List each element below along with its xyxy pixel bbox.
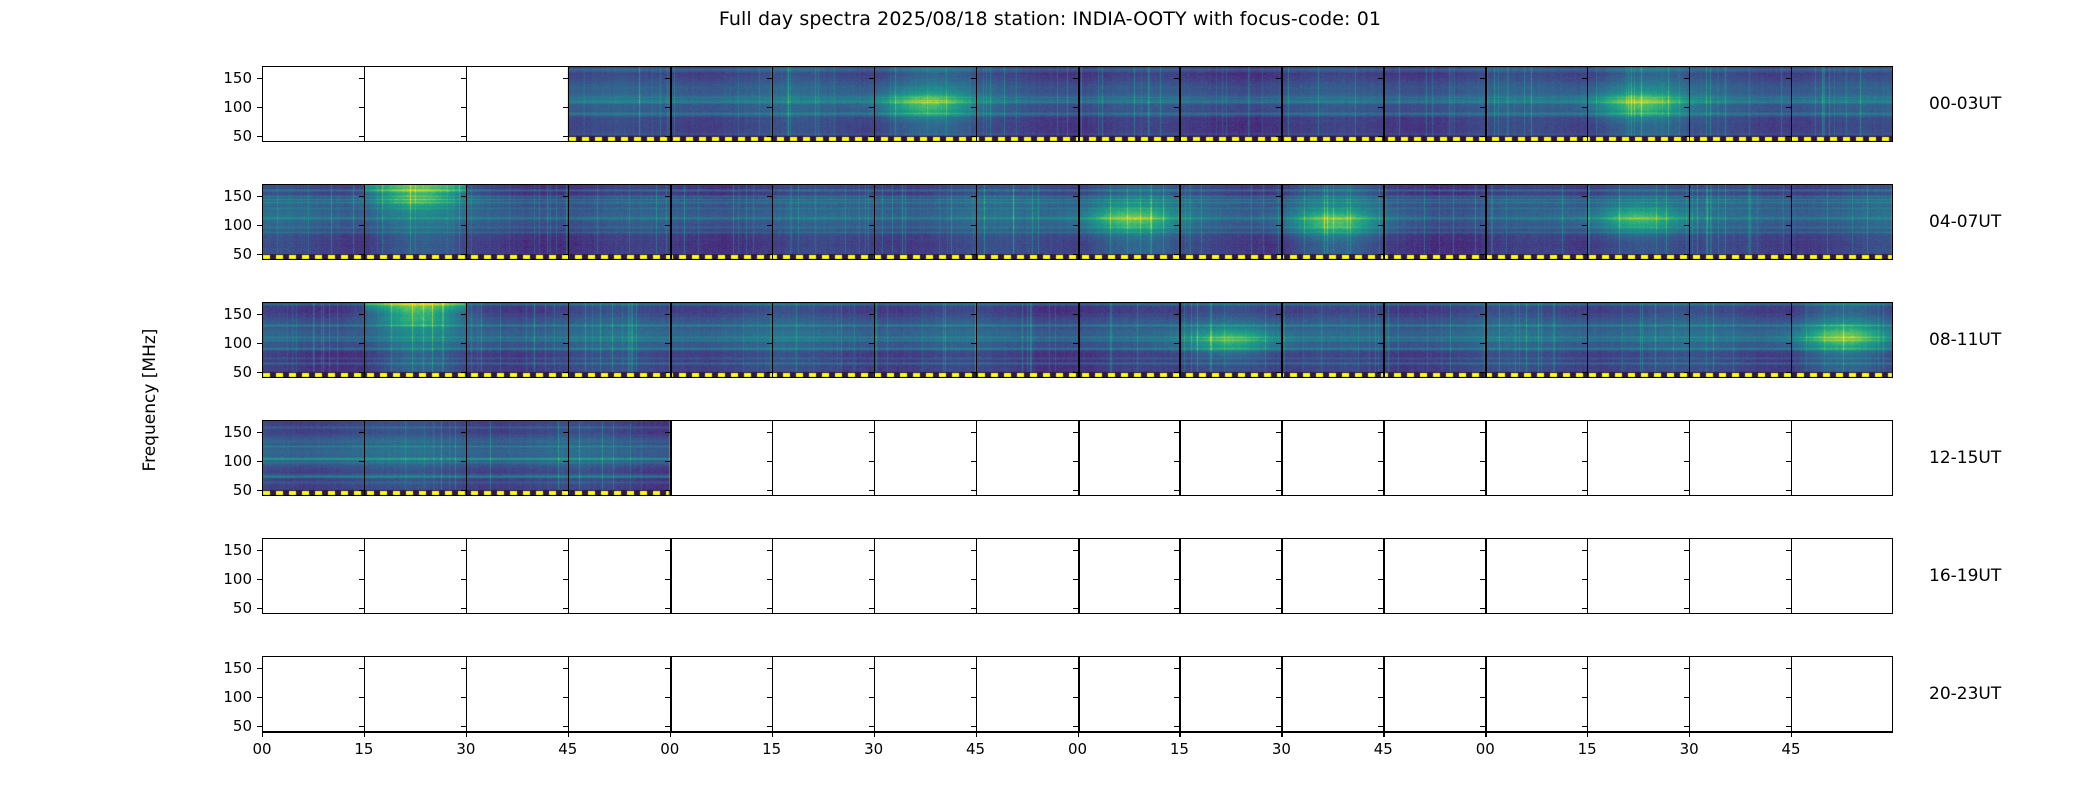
y-tick-mark-inner xyxy=(1786,461,1791,462)
y-tick-label: 50 xyxy=(233,481,252,499)
y-tick-mark-inner xyxy=(767,254,772,255)
x-tick-label: 15 xyxy=(354,740,373,758)
panel-divider xyxy=(364,538,365,614)
panel-divider xyxy=(1485,538,1487,614)
y-tick-mark-inner xyxy=(563,726,568,727)
y-tick-mark-inner xyxy=(1480,608,1485,609)
y-tick-mark xyxy=(257,697,262,698)
y-tick-mark-inner xyxy=(1480,196,1485,197)
y-tick-mark-inner xyxy=(869,196,874,197)
panel-divider xyxy=(568,538,569,614)
y-tick-mark-inner xyxy=(1480,136,1485,137)
x-tick-mark xyxy=(364,732,365,737)
y-tick-mark-inner xyxy=(1174,608,1179,609)
y-tick-mark-inner xyxy=(971,490,976,491)
y-tick-mark-inner xyxy=(1073,254,1078,255)
y-tick-mark xyxy=(257,107,262,108)
y-tick-label: 100 xyxy=(223,216,252,234)
y-tick-mark xyxy=(257,461,262,462)
y-tick-mark-inner xyxy=(767,136,772,137)
y-tick-mark-inner xyxy=(971,579,976,580)
y-tick-mark-inner xyxy=(1480,726,1485,727)
y-tick-mark-inner xyxy=(1073,697,1078,698)
y-tick-mark-inner xyxy=(359,432,364,433)
panel-divider xyxy=(568,656,569,732)
row-label-04-07ut: 04-07UT xyxy=(1929,212,2001,232)
y-tick-mark-inner xyxy=(563,461,568,462)
y-tick-mark-inner xyxy=(1684,668,1689,669)
panel-divider xyxy=(1791,66,1792,142)
panel-divider xyxy=(1179,302,1180,378)
y-tick-mark-inner xyxy=(1582,107,1587,108)
y-tick-mark-inner xyxy=(971,225,976,226)
y-tick-mark-inner xyxy=(1684,107,1689,108)
y-tick-mark-inner xyxy=(359,107,364,108)
y-tick-mark-inner xyxy=(1276,579,1281,580)
y-tick-mark-inner xyxy=(1480,461,1485,462)
y-tick-mark-inner xyxy=(461,254,466,255)
y-tick-mark-inner xyxy=(461,107,466,108)
x-tick-label: 00 xyxy=(1068,740,1087,758)
y-tick-mark-inner xyxy=(1684,314,1689,315)
y-tick-mark-inner xyxy=(1174,78,1179,79)
x-tick-mark xyxy=(1485,732,1486,737)
x-tick-mark xyxy=(466,732,467,737)
panel-divider xyxy=(976,66,977,142)
panel-divider xyxy=(364,656,365,732)
y-tick-mark-inner xyxy=(767,78,772,79)
y-tick-label: 100 xyxy=(223,452,252,470)
y-tick-mark-inner xyxy=(1786,668,1791,669)
y-tick-mark-inner xyxy=(1480,225,1485,226)
y-tick-mark-inner xyxy=(869,225,874,226)
y-tick-mark-inner xyxy=(1073,668,1078,669)
y-tick-mark-inner xyxy=(1786,608,1791,609)
y-tick-mark-inner xyxy=(971,107,976,108)
panel-divider xyxy=(1383,302,1384,378)
x-tick-mark xyxy=(1791,732,1792,737)
y-tick-mark-inner xyxy=(461,372,466,373)
y-tick-label: 100 xyxy=(223,334,252,352)
y-tick-mark-inner xyxy=(665,608,670,609)
y-tick-mark-inner xyxy=(1174,432,1179,433)
plot-area: 5010015000-03UT5010015004-07UT5010015008… xyxy=(262,66,1893,732)
panel-divider xyxy=(1791,302,1792,378)
y-tick-mark-inner xyxy=(1480,490,1485,491)
panel-divider xyxy=(670,420,672,496)
y-tick-mark-inner xyxy=(767,314,772,315)
y-tick-label: 50 xyxy=(233,245,252,263)
panel-divider xyxy=(1179,420,1180,496)
y-tick-mark-inner xyxy=(1276,343,1281,344)
y-tick-mark-inner xyxy=(1378,461,1383,462)
y-tick-mark-inner xyxy=(665,579,670,580)
y-tick-mark-inner xyxy=(1174,668,1179,669)
y-tick-mark-inner xyxy=(461,343,466,344)
y-tick-mark-inner xyxy=(1684,490,1689,491)
panel-divider xyxy=(874,66,875,142)
y-tick-mark-inner xyxy=(1684,136,1689,137)
y-tick-mark-inner xyxy=(1582,579,1587,580)
y-tick-mark-inner xyxy=(1480,343,1485,344)
x-tick-label: 45 xyxy=(1374,740,1393,758)
y-tick-mark-inner xyxy=(1582,461,1587,462)
y-tick-mark-inner xyxy=(563,343,568,344)
y-tick-mark-inner xyxy=(359,196,364,197)
y-tick-mark-inner xyxy=(1276,490,1281,491)
y-tick-mark-inner xyxy=(1786,196,1791,197)
x-tick-mark xyxy=(568,732,569,737)
y-tick-label: 100 xyxy=(223,570,252,588)
y-tick-mark-inner xyxy=(359,490,364,491)
y-tick-mark-inner xyxy=(461,196,466,197)
panel-divider xyxy=(1587,184,1588,260)
y-tick-mark-inner xyxy=(1174,372,1179,373)
y-tick-mark-inner xyxy=(1073,461,1078,462)
y-tick-mark-inner xyxy=(563,314,568,315)
y-tick-mark-inner xyxy=(869,579,874,580)
panel-divider xyxy=(1485,66,1487,142)
y-tick-mark-inner xyxy=(1786,343,1791,344)
y-tick-mark-inner xyxy=(359,136,364,137)
y-tick-mark-inner xyxy=(1073,196,1078,197)
y-tick-mark xyxy=(257,343,262,344)
panel-divider xyxy=(1689,538,1690,614)
y-tick-mark-inner xyxy=(971,697,976,698)
panel-divider xyxy=(466,302,467,378)
y-tick-mark-inner xyxy=(869,726,874,727)
y-tick-mark-inner xyxy=(1174,550,1179,551)
y-tick-mark-inner xyxy=(1174,254,1179,255)
panel-divider xyxy=(874,302,875,378)
panel-divider xyxy=(1179,538,1180,614)
y-tick-mark-inner xyxy=(1073,579,1078,580)
x-tick-mark xyxy=(772,732,773,737)
y-tick-label: 150 xyxy=(223,69,252,87)
panel-divider xyxy=(1281,538,1282,614)
panel-divider xyxy=(1791,184,1792,260)
y-tick-mark-inner xyxy=(1378,697,1383,698)
x-tick-label: 15 xyxy=(1170,740,1189,758)
y-tick-mark-inner xyxy=(767,372,772,373)
y-tick-label: 50 xyxy=(233,717,252,735)
y-tick-mark-inner xyxy=(1582,314,1587,315)
y-tick-mark-inner xyxy=(869,343,874,344)
y-tick-mark-inner xyxy=(971,608,976,609)
panel-divider xyxy=(976,184,977,260)
y-tick-mark-inner xyxy=(563,432,568,433)
y-tick-mark-inner xyxy=(665,107,670,108)
y-tick-mark-inner xyxy=(1582,668,1587,669)
y-tick-mark-inner xyxy=(1582,490,1587,491)
y-tick-mark xyxy=(257,372,262,373)
y-tick-mark-inner xyxy=(869,461,874,462)
panel-divider xyxy=(670,184,672,260)
y-tick-mark-inner xyxy=(971,461,976,462)
panel-divider xyxy=(1078,656,1080,732)
y-tick-mark-inner xyxy=(971,196,976,197)
y-tick-mark-inner xyxy=(1480,254,1485,255)
y-tick-mark-inner xyxy=(665,225,670,226)
y-tick-label: 50 xyxy=(233,363,252,381)
row-label-12-15ut: 12-15UT xyxy=(1929,448,2001,468)
y-tick-mark-inner xyxy=(1684,372,1689,373)
y-tick-mark xyxy=(257,490,262,491)
y-tick-mark-inner xyxy=(1276,254,1281,255)
y-tick-mark-inner xyxy=(563,550,568,551)
panel-divider xyxy=(772,656,773,732)
y-tick-mark-inner xyxy=(1174,107,1179,108)
y-tick-mark xyxy=(257,668,262,669)
y-tick-mark-inner xyxy=(1174,697,1179,698)
y-tick-mark-inner xyxy=(359,579,364,580)
panel-divider xyxy=(466,538,467,614)
panel-divider xyxy=(1689,656,1690,732)
panel-divider xyxy=(466,420,467,496)
y-tick-mark-inner xyxy=(1480,668,1485,669)
y-tick-label: 150 xyxy=(223,423,252,441)
y-tick-mark-inner xyxy=(1786,550,1791,551)
panel-divider xyxy=(1281,66,1282,142)
spectra-row-16-19ut[interactable]: 5010015016-19UT xyxy=(262,538,1893,614)
y-tick-mark-inner xyxy=(1786,254,1791,255)
x-tick-label: 00 xyxy=(660,740,679,758)
row-label-16-19ut: 16-19UT xyxy=(1929,566,2001,586)
panel-divider xyxy=(1281,420,1282,496)
y-tick-mark-inner xyxy=(1684,196,1689,197)
y-tick-mark-inner xyxy=(1684,78,1689,79)
spectra-row-12-15ut[interactable]: 5010015012-15UT xyxy=(262,420,1893,496)
panel-divider xyxy=(1078,420,1080,496)
y-tick-mark-inner xyxy=(1480,697,1485,698)
y-tick-mark-inner xyxy=(1480,78,1485,79)
y-tick-mark-inner xyxy=(1582,136,1587,137)
y-tick-mark-inner xyxy=(1786,372,1791,373)
y-tick-mark xyxy=(257,432,262,433)
y-tick-mark-inner xyxy=(1684,608,1689,609)
y-tick-mark-inner xyxy=(1582,78,1587,79)
y-tick-mark-inner xyxy=(1582,432,1587,433)
x-tick-label: 00 xyxy=(252,740,271,758)
y-tick-mark-inner xyxy=(1684,254,1689,255)
panel-divider xyxy=(1485,184,1487,260)
y-tick-mark-inner xyxy=(869,697,874,698)
y-tick-mark-inner xyxy=(1786,225,1791,226)
y-tick-mark xyxy=(257,726,262,727)
y-tick-mark-inner xyxy=(971,726,976,727)
y-tick-mark-inner xyxy=(1073,314,1078,315)
panel-divider xyxy=(976,302,977,378)
panel-divider xyxy=(1078,302,1080,378)
x-tick-mark xyxy=(976,732,977,737)
y-tick-label: 150 xyxy=(223,187,252,205)
y-tick-mark-inner xyxy=(359,78,364,79)
spectra-row-08-11ut[interactable]: 5010015008-11UT xyxy=(262,302,1893,378)
y-tick-mark-inner xyxy=(461,78,466,79)
panel-divider xyxy=(670,66,672,142)
spectra-row-04-07ut[interactable]: 5010015004-07UT xyxy=(262,184,1893,260)
y-tick-mark-inner xyxy=(1378,726,1383,727)
y-tick-mark-inner xyxy=(461,697,466,698)
y-tick-mark-inner xyxy=(461,608,466,609)
y-tick-mark-inner xyxy=(1378,372,1383,373)
y-tick-mark-inner xyxy=(1276,107,1281,108)
y-tick-mark-inner xyxy=(767,550,772,551)
y-tick-mark-inner xyxy=(1276,668,1281,669)
panel-divider xyxy=(1689,184,1690,260)
y-tick-mark-inner xyxy=(461,579,466,580)
panel-divider xyxy=(466,66,467,142)
y-tick-mark xyxy=(257,550,262,551)
panel-divider xyxy=(1791,656,1792,732)
panel-divider xyxy=(568,420,569,496)
y-tick-mark-inner xyxy=(359,461,364,462)
y-tick-mark-inner xyxy=(767,461,772,462)
y-tick-mark-inner xyxy=(665,668,670,669)
figure-root: Full day spectra 2025/08/18 station: IND… xyxy=(0,0,2100,800)
y-tick-mark-inner xyxy=(1276,432,1281,433)
y-tick-label: 150 xyxy=(223,541,252,559)
y-tick-mark-inner xyxy=(1582,343,1587,344)
y-tick-mark-inner xyxy=(1582,254,1587,255)
panel-divider xyxy=(1383,656,1384,732)
y-tick-mark-inner xyxy=(869,608,874,609)
y-tick-mark xyxy=(257,608,262,609)
y-tick-mark xyxy=(257,579,262,580)
panel-divider xyxy=(1587,302,1588,378)
y-tick-mark-inner xyxy=(1684,225,1689,226)
row-label-00-03ut: 00-03UT xyxy=(1929,94,2001,114)
x-tick-mark xyxy=(1281,732,1282,737)
y-tick-mark-inner xyxy=(1378,550,1383,551)
y-tick-mark-inner xyxy=(1174,461,1179,462)
y-tick-mark-inner xyxy=(1073,136,1078,137)
y-tick-label: 100 xyxy=(223,688,252,706)
panel-divider xyxy=(568,184,569,260)
y-tick-mark-inner xyxy=(1582,372,1587,373)
y-tick-mark-inner xyxy=(1276,461,1281,462)
panel-divider xyxy=(1587,66,1588,142)
panel-divider xyxy=(1587,538,1588,614)
panel-divider xyxy=(568,66,569,142)
panel-divider xyxy=(772,538,773,614)
y-tick-mark-inner xyxy=(767,225,772,226)
panel-divider xyxy=(364,420,365,496)
y-tick-mark-inner xyxy=(1073,225,1078,226)
y-tick-mark-inner xyxy=(1276,550,1281,551)
y-tick-mark-inner xyxy=(1276,697,1281,698)
panel-divider xyxy=(364,302,365,378)
y-tick-mark-inner xyxy=(1276,608,1281,609)
y-tick-mark-inner xyxy=(563,136,568,137)
y-tick-mark xyxy=(257,136,262,137)
y-tick-label: 50 xyxy=(233,599,252,617)
panel-divider xyxy=(772,184,773,260)
panel-divider xyxy=(1281,302,1282,378)
y-tick-mark-inner xyxy=(665,314,670,315)
y-tick-mark-inner xyxy=(767,107,772,108)
y-tick-mark-inner xyxy=(563,107,568,108)
y-tick-mark xyxy=(257,196,262,197)
y-tick-mark-inner xyxy=(1073,432,1078,433)
y-tick-mark-inner xyxy=(359,372,364,373)
y-tick-mark-inner xyxy=(665,136,670,137)
y-tick-mark-inner xyxy=(1174,726,1179,727)
y-tick-mark-inner xyxy=(665,196,670,197)
y-tick-mark-inner xyxy=(869,107,874,108)
y-tick-mark-inner xyxy=(971,78,976,79)
y-tick-mark-inner xyxy=(1073,726,1078,727)
y-tick-mark-inner xyxy=(1174,225,1179,226)
x-tick-label: 30 xyxy=(456,740,475,758)
y-tick-mark-inner xyxy=(461,550,466,551)
y-tick-mark-inner xyxy=(1582,196,1587,197)
y-tick-mark-inner xyxy=(1174,196,1179,197)
y-tick-mark-inner xyxy=(665,697,670,698)
spectra-row-00-03ut[interactable]: 5010015000-03UT xyxy=(262,66,1893,142)
y-tick-mark-inner xyxy=(869,254,874,255)
y-tick-mark-inner xyxy=(359,697,364,698)
y-tick-mark-inner xyxy=(1174,314,1179,315)
y-tick-mark-inner xyxy=(869,314,874,315)
y-tick-mark-inner xyxy=(767,726,772,727)
y-tick-mark-inner xyxy=(1786,697,1791,698)
panel-divider xyxy=(1485,656,1487,732)
panel-divider xyxy=(1383,538,1384,614)
y-tick-mark-inner xyxy=(1582,726,1587,727)
panel-divider xyxy=(364,184,365,260)
x-tick-label: 30 xyxy=(1272,740,1291,758)
y-tick-mark-inner xyxy=(461,726,466,727)
x-tick-label: 15 xyxy=(1578,740,1597,758)
y-tick-mark-inner xyxy=(971,668,976,669)
figure-title: Full day spectra 2025/08/18 station: IND… xyxy=(0,8,2100,30)
panel-divider xyxy=(874,184,875,260)
y-tick-mark-inner xyxy=(1684,579,1689,580)
y-tick-mark-inner xyxy=(971,432,976,433)
panel-divider xyxy=(772,302,773,378)
spectra-row-20-23ut[interactable]: 5010015020-23UT xyxy=(262,656,1893,732)
x-tick-label: 45 xyxy=(558,740,577,758)
y-tick-mark-inner xyxy=(359,608,364,609)
y-tick-mark-inner xyxy=(1378,78,1383,79)
y-tick-mark-inner xyxy=(665,490,670,491)
y-tick-mark-inner xyxy=(359,314,364,315)
y-tick-mark xyxy=(257,314,262,315)
panel-divider xyxy=(1383,66,1384,142)
y-tick-mark-inner xyxy=(665,343,670,344)
y-tick-mark-inner xyxy=(971,314,976,315)
y-tick-mark-inner xyxy=(665,78,670,79)
y-tick-mark-inner xyxy=(563,372,568,373)
y-tick-mark-inner xyxy=(767,490,772,491)
y-tick-mark-inner xyxy=(1378,343,1383,344)
panel-divider xyxy=(976,420,977,496)
y-tick-mark-inner xyxy=(665,726,670,727)
y-tick-label: 150 xyxy=(223,305,252,323)
panel-divider xyxy=(1689,66,1690,142)
panel-divider xyxy=(1179,66,1180,142)
x-tick-mark xyxy=(1383,732,1384,737)
y-tick-mark-inner xyxy=(1378,196,1383,197)
y-tick-mark-inner xyxy=(563,608,568,609)
y-tick-mark-inner xyxy=(563,254,568,255)
y-tick-mark-inner xyxy=(1582,225,1587,226)
y-tick-mark-inner xyxy=(563,579,568,580)
panel-divider xyxy=(466,656,467,732)
y-tick-mark-inner xyxy=(971,372,976,373)
y-tick-mark-inner xyxy=(869,78,874,79)
